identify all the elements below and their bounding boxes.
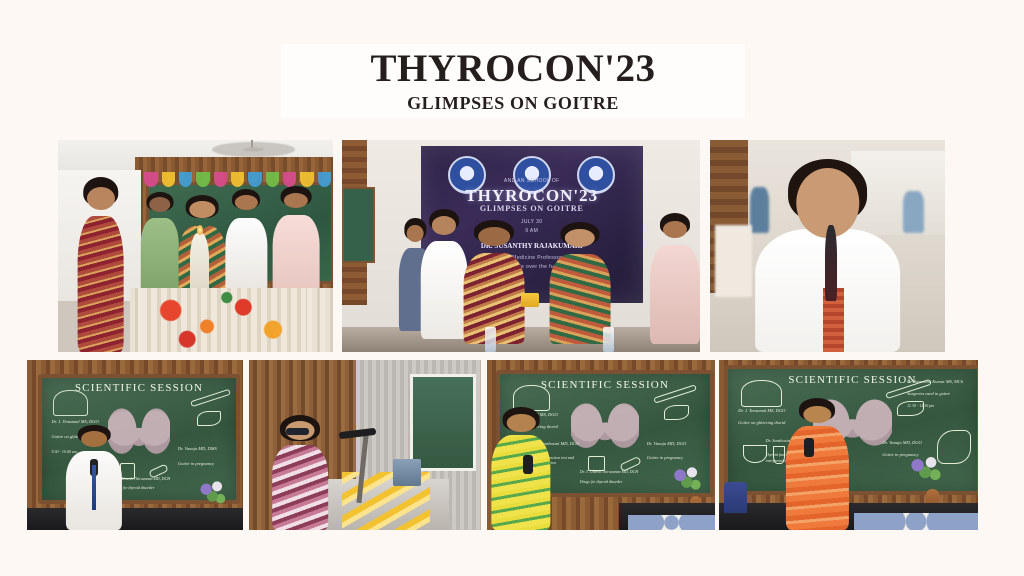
person-green-shirt <box>141 197 180 292</box>
blue-chair <box>724 482 747 513</box>
sunglasses-icon <box>286 428 309 435</box>
photo-scientific-session-orange-saree: SCIENTIFIC SESSION Dr. J. Tensamal MS, D… <box>719 360 978 530</box>
person-white-shirt <box>226 195 267 297</box>
person-presenting-memento <box>550 229 611 343</box>
side-chalkboard <box>410 374 476 472</box>
ceremonial-lamp-icon <box>190 233 209 297</box>
person-pink-shirt <box>273 193 320 303</box>
flower-bouquet <box>905 455 946 496</box>
scissors-icon <box>197 411 220 426</box>
board-note-5: Dr. Vanaja MD, DGO <box>647 441 706 447</box>
thyroid-gland-drawing <box>571 400 638 457</box>
page-title: THYROCON'23 <box>370 49 655 89</box>
flask-icon <box>743 445 767 463</box>
water-bottle-icon-2 <box>603 327 614 352</box>
microphone-icon <box>825 225 837 301</box>
floral-table-runner <box>141 288 306 352</box>
poster-canvas: THYROCON'23 GLIMPSES ON GOITRE <box>0 0 1024 576</box>
board-note-6: Goitre in pregnancy <box>647 455 706 461</box>
background-person-1 <box>750 187 769 234</box>
background-person-2 <box>903 191 924 233</box>
microphone-icon <box>523 455 532 474</box>
person-podium-speaker <box>272 421 328 530</box>
photo-lamp-lighting: Inaugural lamp lighting ceremony with fa… <box>58 140 333 352</box>
board-note-4: Dr. Vanaja MD, DMS <box>178 446 232 452</box>
scissors-icon <box>897 401 924 416</box>
id-card-lanyard <box>92 465 96 509</box>
board-note-5: Goitre in pregnancy <box>178 461 232 467</box>
background-chair <box>715 225 753 297</box>
neck-diagram-icon <box>741 380 783 406</box>
person-pink-shirt-right <box>650 221 700 344</box>
printed-table-cloth <box>628 515 715 530</box>
title-banner: THYROCON'23 GLIMPSES ON GOITRE <box>281 44 745 118</box>
person-yellow-saree-speaker <box>492 414 551 530</box>
neck-diagram-icon <box>53 390 88 416</box>
photo-podium-speaker: Woman with sunglasses speaking into a mi… <box>249 360 481 530</box>
memento-icon <box>521 293 539 308</box>
person-white-shirt-id-card <box>421 216 468 339</box>
side-chalkboard <box>342 187 375 263</box>
screen-title: THYROCON'23 <box>421 186 643 206</box>
person-orange-saree-speaker <box>786 406 848 530</box>
institution-logos <box>421 156 643 180</box>
lamp-flame-icon <box>197 225 203 236</box>
laptop-icon <box>393 459 421 486</box>
board-note-8: Drugs for thyroid disorder <box>580 479 656 484</box>
person-receiving-memento <box>464 227 525 344</box>
chair-row <box>27 508 243 530</box>
water-bottle-icon <box>485 327 496 352</box>
photo-scientific-session-yellow-saree: SCIENTIFIC SESSION Dr. J. Tensamal MS, D… <box>487 360 715 530</box>
ceiling-fan-icon <box>212 142 295 157</box>
medicine-bottle-icon <box>588 456 605 471</box>
board-note-1: Dr. J. Tensamal MS, DGO <box>52 419 103 425</box>
page-subtitle: GLIMPSES ON GOITRE <box>407 92 619 114</box>
photo-scientific-session-male-speaker: SCIENTIFIC SESSION Dr. J. Tensamal MS, D… <box>27 360 243 530</box>
microphone-icon <box>804 438 813 457</box>
printed-table-cloth <box>854 513 978 530</box>
photo-memento-presentation: AND AN SCHOOL OF THYROCON'23 GLIMPSES ON… <box>342 140 700 352</box>
person-maroon-saree <box>77 187 124 352</box>
board-note-6: Surgeries used in goitre <box>907 391 972 397</box>
photo-doctor-speaking: Doctor in a white coat addressing the au… <box>710 140 945 352</box>
scissors-icon <box>664 405 689 420</box>
test-tube-icon <box>773 446 785 464</box>
screen-organiser-line: AND AN SCHOOL OF <box>421 178 643 184</box>
